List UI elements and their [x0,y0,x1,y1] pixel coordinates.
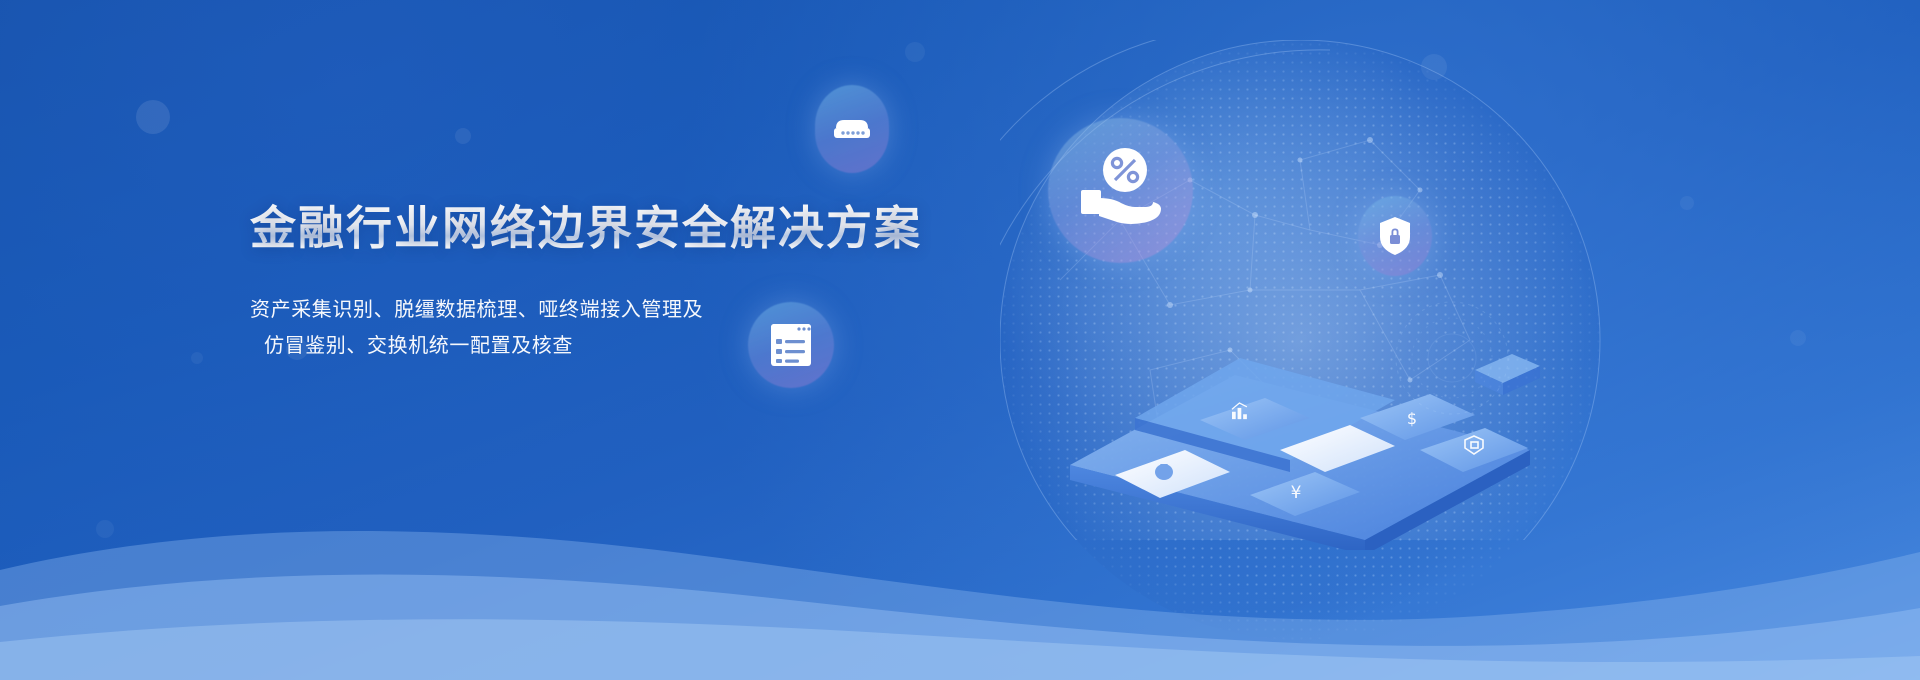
bokeh-circle [1790,330,1806,346]
bokeh-circle [96,520,114,538]
hero-copy: 金融行业网络边界安全解决方案 资产采集识别、脱缰数据梳理、哑终端接入管理及 仿冒… [250,200,1010,364]
bokeh-circle [136,100,170,134]
platform-tile: ¥ [1250,472,1360,516]
hand-percent-icon [1073,146,1169,236]
bokeh-circle [191,352,203,364]
shield-badge[interactable] [1358,196,1432,276]
bokeh-circle [905,42,925,62]
shield-lock-icon [1377,215,1413,257]
radar-ring-decor [1392,298,1512,418]
subtitle-line-1: 资产采集识别、脱缰数据梳理、哑终端接入管理及 [250,292,1010,328]
router-badge[interactable] [815,85,889,173]
subtitle-line-2: 仿冒鉴别、交换机统一配置及核查 [250,328,1010,364]
hero-banner: ¥ $ [0,0,1920,680]
bokeh-circle [1680,196,1694,210]
page-title: 金融行业网络边界安全解决方案 [250,200,1010,258]
document-list-icon [768,321,814,369]
hero-subtitle: 资产采集识别、脱缰数据梳理、哑终端接入管理及 仿冒鉴别、交换机统一配置及核查 [250,292,1010,364]
router-icon [830,114,874,144]
platform-tile [1200,398,1310,440]
platform-tile [1420,428,1528,472]
bokeh-circle [1421,54,1447,80]
network-globe [1000,40,1640,540]
finance-badge[interactable] [1048,118,1193,263]
bottom-wave [0,420,1920,680]
svg-text:¥: ¥ [1291,483,1302,503]
globe-network-lines [1000,40,1640,540]
bokeh-circle [455,128,471,144]
platform-terrace [1135,358,1395,472]
platform-tile [1280,425,1395,472]
platform-tile [1115,450,1230,498]
isometric-platform: ¥ $ [1060,300,1660,550]
